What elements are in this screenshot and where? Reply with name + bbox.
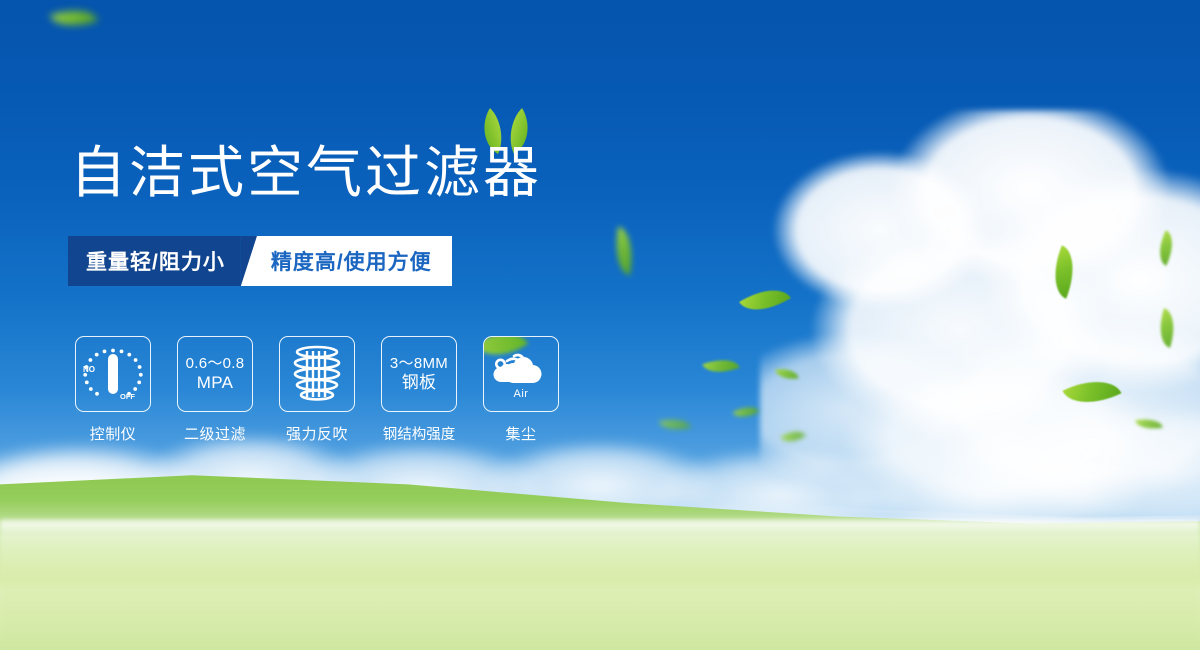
tagline-right: 精度高/使用方便 — [267, 236, 452, 286]
feature-item-dust-collection[interactable]: Air 集尘 — [483, 336, 559, 444]
pressure-unit: MPA — [186, 373, 245, 393]
feature-icon-box: 0.6～0.8 MPA — [177, 336, 253, 412]
gauge-control-icon: NO OFF — [78, 341, 148, 407]
steel-plate-text-icon: 3～8MM 钢板 — [390, 355, 448, 393]
air-cloud-icon — [490, 347, 552, 391]
air-label: Air — [514, 388, 529, 400]
feature-list: NO OFF 控制仪 0.6～0.8 MPA 二级过滤 — [75, 336, 559, 444]
gauge-label-off: OFF — [120, 392, 135, 401]
feature-item-secondary-filter[interactable]: 0.6～0.8 MPA 二级过滤 — [177, 336, 253, 444]
feature-item-steel-strength[interactable]: 3～8MM 钢板 钢结构强度 — [381, 336, 457, 444]
pressure-range: 0.6～0.8 — [186, 355, 245, 372]
steel-thickness: 3～8MM — [390, 355, 448, 372]
feature-icon-box — [279, 336, 355, 412]
feature-label: 集尘 — [505, 423, 536, 444]
pressure-text-icon: 0.6～0.8 MPA — [186, 355, 245, 393]
gauge-label-no: NO — [83, 365, 95, 374]
feature-icon-box: Air — [483, 336, 559, 412]
grass-foreground — [0, 520, 1200, 650]
feature-label: 控制仪 — [90, 423, 137, 444]
feature-item-controller[interactable]: NO OFF 控制仪 — [75, 336, 151, 444]
steel-material: 钢板 — [390, 373, 448, 393]
tagline-badge: 重量轻/阻力小 精度高/使用方便 — [68, 236, 452, 286]
tagline-slant-divider — [241, 236, 267, 286]
tagline-left: 重量轻/阻力小 — [68, 236, 241, 286]
filter-coil-icon — [289, 343, 345, 405]
leaf-decoration — [50, 2, 98, 35]
feature-item-pulse-blowback[interactable]: 强力反吹 — [279, 336, 355, 444]
feature-icon-box: 3～8MM 钢板 — [381, 336, 457, 412]
product-banner: 自洁式空气过滤器 重量轻/阻力小 精度高/使用方便 — [0, 0, 1200, 650]
feature-icon-box: NO OFF — [75, 336, 151, 412]
feature-label: 二级过滤 — [184, 423, 246, 444]
leaf-decoration — [702, 353, 739, 380]
feature-label: 钢结构强度 — [383, 423, 456, 444]
feature-label: 强力反吹 — [286, 423, 348, 444]
page-title: 自洁式空气过滤器 — [70, 142, 542, 205]
leaf-decoration — [610, 227, 638, 276]
